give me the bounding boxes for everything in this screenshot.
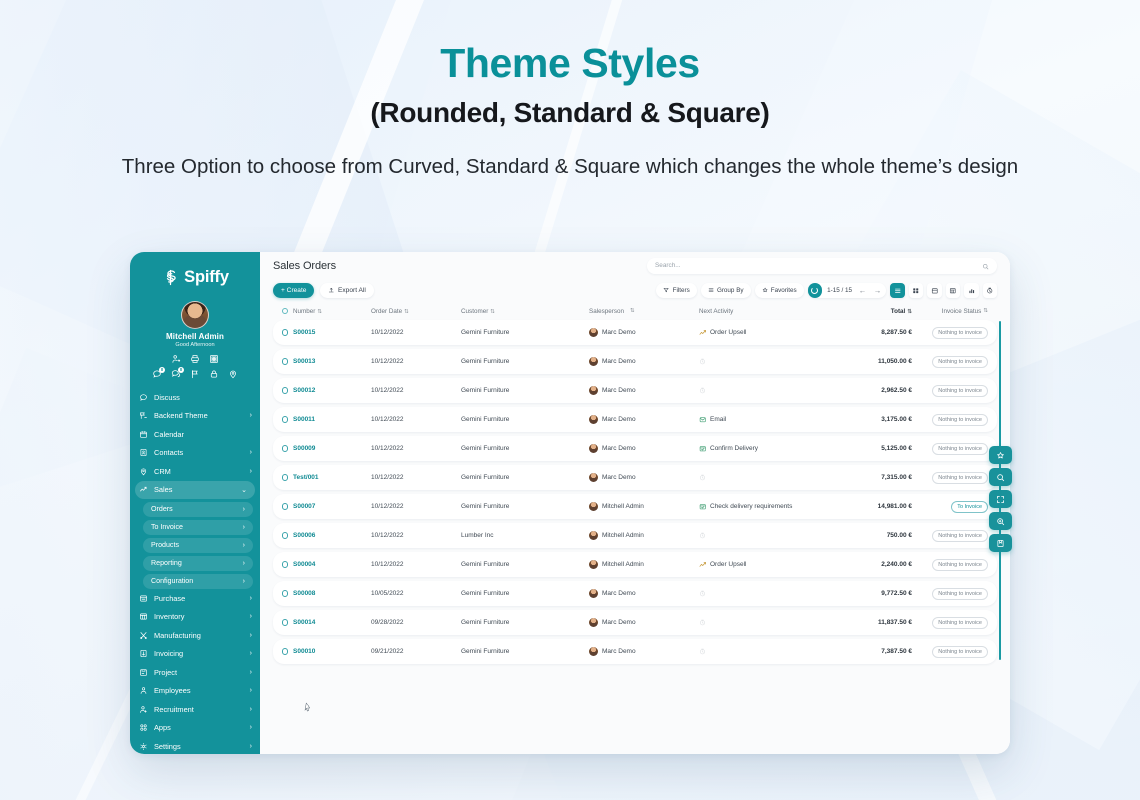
sidebar-item-label: Settings (154, 742, 244, 751)
cell-next-activity[interactable]: Confirm Delivery (699, 445, 840, 453)
cell-order-date: 10/12/2022 (371, 387, 461, 394)
upsell-chart-icon (699, 329, 707, 337)
row-checkbox[interactable] (277, 445, 293, 452)
salesperson-name: Marc Demo (602, 358, 636, 365)
theme-icon (139, 411, 148, 420)
status-badge: To Invoice (951, 501, 988, 513)
next-activity-label: Confirm Delivery (710, 445, 758, 452)
create-button[interactable]: + Create (273, 283, 314, 298)
pivot-view-icon[interactable] (946, 283, 961, 298)
upload-icon (328, 287, 335, 294)
export-all-label: Export All (338, 287, 366, 294)
table-row[interactable]: S0000810/05/2022Gemini FurnitureMarc Dem… (273, 581, 997, 606)
cell-customer: Gemini Furniture (461, 387, 589, 394)
sidebar-item-project[interactable]: Project › (130, 663, 260, 682)
sidebar-menu: Discuss Backend Theme › Calendar Contact… (130, 388, 260, 754)
avatar (589, 328, 598, 337)
kanban-view-icon[interactable] (909, 283, 924, 298)
pager: 1-15 / 15 ← → (808, 283, 886, 298)
next-activity-label: Order Upsell (710, 329, 746, 336)
cell-next-activity[interactable]: Order Upsell (699, 329, 840, 337)
cell-next-activity[interactable] (699, 387, 840, 394)
cell-order-date: 10/12/2022 (371, 445, 461, 452)
manufacturing-icon (139, 631, 148, 640)
table-row[interactable]: S0001110/12/2022Gemini FurnitureMarc Dem… (273, 407, 997, 432)
cell-next-activity[interactable]: Order Upsell (699, 561, 840, 569)
table-body: S0001510/12/2022Gemini FurnitureMarc Dem… (273, 320, 997, 664)
messages-icon[interactable]: 0 (171, 369, 181, 379)
avatar (589, 357, 598, 366)
sidebar-item-label: Calendar (154, 430, 246, 439)
sort-icon: ⇅ (317, 309, 322, 315)
cell-next-activity[interactable] (699, 358, 840, 365)
contacts-icon (139, 448, 148, 457)
next-activity-label: Check delivery requirements (710, 503, 792, 510)
cell-invoice-status: Nothing to invoice (912, 559, 988, 571)
cell-number[interactable]: S00015 (293, 329, 371, 336)
cell-number[interactable]: S00004 (293, 561, 371, 568)
sidebar-item-configuration[interactable]: Configuration › (143, 574, 253, 590)
cell-invoice-status: To Invoice (912, 501, 988, 513)
sidebar-item-label: Sales (154, 485, 235, 494)
cell-number[interactable]: S00008 (293, 590, 371, 597)
chevron-right-icon: › (250, 412, 252, 419)
next-activity-label: Email (710, 416, 726, 423)
status-badge: Nothing to invoice (932, 414, 988, 426)
cell-salesperson: Marc Demo (589, 415, 699, 424)
row-checkbox[interactable] (277, 532, 293, 539)
cell-next-activity[interactable]: Email (699, 416, 840, 424)
cell-order-date: 09/21/2022 (371, 648, 461, 655)
status-badge: Nothing to invoice (932, 530, 988, 542)
sidebar-item-reporting[interactable]: Reporting › (143, 556, 253, 572)
status-badge: Nothing to invoice (932, 385, 988, 397)
sidebar-item-label: Orders (151, 505, 237, 513)
sidebar: Spiffy Mitchell Admin Good Afternoon (130, 252, 260, 754)
filters-label: Filters (673, 287, 690, 294)
sidebar-item-label: Purchase (154, 594, 244, 603)
sidebar-item-label: Products (151, 541, 237, 549)
cell-total: 750.00 € (840, 532, 912, 539)
salesperson-name: Mitchell Admin (602, 561, 644, 568)
user-name: Mitchell Admin (130, 332, 260, 341)
sidebar-item-label: Contacts (154, 448, 244, 457)
sidebar-item-label: Apps (154, 723, 244, 732)
cell-salesperson: Marc Demo (589, 328, 699, 337)
salesperson-name: Marc Demo (602, 474, 636, 481)
chevron-right-icon: › (243, 560, 245, 567)
cell-total: 3,175.00 € (840, 416, 912, 423)
status-badge: Nothing to invoice (932, 588, 988, 600)
sidebar-item-backend-theme[interactable]: Backend Theme › (130, 407, 260, 426)
avatar (589, 589, 598, 598)
discuss-icon (139, 393, 148, 402)
pager-next-button[interactable]: → (872, 286, 883, 295)
status-badge: Nothing to invoice (932, 617, 988, 629)
column-header-number[interactable]: Number⇅ (293, 308, 371, 315)
salesperson-name: Marc Demo (602, 387, 636, 394)
row-checkbox[interactable] (277, 619, 293, 626)
sort-icon: ⇅ (490, 309, 495, 315)
sidebar-item-label: Inventory (154, 612, 244, 621)
cell-total: 7,387.50 € (840, 648, 912, 655)
sort-icon: ⇅ (404, 309, 409, 315)
book-icon[interactable] (989, 534, 1012, 552)
zoom-in-icon[interactable] (989, 512, 1012, 530)
table-header-row: Number⇅ Order Date⇅ Customer⇅ Salesperso… (273, 302, 997, 320)
cell-total: 11,837.50 € (840, 619, 912, 626)
sidebar-item-products[interactable]: Products › (143, 538, 253, 554)
calendar-view-icon[interactable] (927, 283, 942, 298)
table-row[interactable]: S0001409/28/2022Gemini FurnitureMarc Dem… (273, 610, 997, 635)
cell-invoice-status: Nothing to invoice (912, 530, 988, 542)
cell-total: 7,315.00 € (840, 474, 912, 481)
cell-next-activity[interactable] (699, 532, 840, 539)
chevron-right-icon: › (250, 632, 252, 639)
notification-badge: 0 (178, 367, 184, 373)
group-by-button[interactable]: Group By (701, 283, 751, 298)
sales-chart-icon (139, 485, 148, 494)
cell-order-date: 10/12/2022 (371, 474, 461, 481)
cell-customer: Gemini Furniture (461, 474, 589, 481)
column-header-next-activity[interactable]: Next Activity (699, 308, 840, 315)
sidebar-item-label: Employees (154, 686, 244, 695)
search-icon[interactable] (982, 257, 989, 275)
cell-next-activity[interactable]: Check delivery requirements (699, 503, 840, 511)
salesperson-name: Mitchell Admin (602, 532, 644, 539)
salesperson-name: Marc Demo (602, 329, 636, 336)
calendar-check-icon (699, 445, 707, 453)
sidebar-item-label: Discuss (154, 393, 246, 402)
row-checkbox[interactable] (277, 561, 293, 568)
sidebar-item-label: Recruitment (154, 705, 244, 714)
sidebar-item-inventory[interactable]: Inventory › (130, 608, 260, 627)
cell-invoice-status: Nothing to invoice (912, 327, 988, 339)
page-subtitle: (Rounded, Standard & Square) (0, 85, 1140, 129)
fullscreen-icon[interactable] (989, 490, 1012, 508)
clock-icon (699, 648, 706, 655)
sidebar-item-label: Invoicing (154, 649, 244, 658)
salesperson-name: Mitchell Admin (602, 503, 644, 510)
sidebar-item-to-invoice[interactable]: To Invoice › (143, 520, 253, 536)
status-badge: Nothing to invoice (932, 443, 988, 455)
export-all-button[interactable]: Export All (320, 283, 373, 298)
cell-salesperson: Mitchell Admin (589, 531, 699, 540)
cell-customer: Gemini Furniture (461, 619, 589, 626)
sidebar-quick-icons: 0 0 (130, 354, 260, 379)
star-icon (762, 287, 768, 293)
search-icon[interactable] (989, 468, 1012, 486)
chevron-right-icon: › (243, 578, 245, 585)
settings-gear-icon (139, 742, 148, 751)
calendar-check-icon (699, 503, 707, 511)
cell-customer: Gemini Furniture (461, 503, 589, 510)
page-title: Theme Styles (0, 0, 1140, 85)
cell-invoice-status: Nothing to invoice (912, 356, 988, 368)
sidebar-item-recruitment[interactable]: Recruitment › (130, 700, 260, 719)
row-checkbox[interactable] (277, 503, 293, 510)
table-row[interactable]: S0000410/12/2022Gemini FurnitureMitchell… (273, 552, 997, 577)
inventory-icon (139, 612, 148, 621)
chevron-right-icon: › (250, 595, 252, 602)
cell-order-date: 10/12/2022 (371, 532, 461, 539)
list-view-icon[interactable] (890, 283, 905, 298)
brand-name: Spiffy (184, 268, 229, 287)
status-badge: Nothing to invoice (932, 327, 988, 339)
row-checkbox[interactable] (277, 358, 293, 365)
table-row[interactable]: S0001310/12/2022Gemini FurnitureMarc Dem… (273, 349, 997, 374)
location-pin-icon[interactable] (228, 369, 238, 379)
row-checkbox[interactable] (277, 416, 293, 423)
cell-order-date: 10/12/2022 (371, 358, 461, 365)
sidebar-item-apps[interactable]: Apps › (130, 719, 260, 738)
chevron-right-icon: › (250, 669, 252, 676)
sidebar-item-employees[interactable]: Employees › (130, 682, 260, 701)
column-header-customer[interactable]: Customer⇅ (461, 308, 589, 315)
sidebar-item-label: CRM (154, 467, 244, 476)
clock-icon (699, 387, 706, 394)
column-header-total[interactable]: Total⇅ (840, 308, 912, 315)
table-row[interactable]: Test/00110/12/2022Gemini FurnitureMarc D… (273, 465, 997, 490)
cell-invoice-status: Nothing to invoice (912, 385, 988, 397)
brand[interactable]: Spiffy (130, 261, 260, 294)
recruitment-icon (139, 705, 148, 714)
user-card[interactable]: Mitchell Admin Good Afternoon (130, 301, 260, 348)
cell-total: 9,772.50 € (840, 590, 912, 597)
avatar (589, 473, 598, 482)
status-badge: Nothing to invoice (932, 356, 988, 368)
avatar (589, 531, 598, 540)
cell-number[interactable]: S00013 (293, 358, 371, 365)
main-content: Sales Orders Search... + Create Export A… (260, 252, 1010, 754)
avatar (589, 386, 598, 395)
graph-view-icon[interactable] (964, 283, 979, 298)
avatar (589, 415, 598, 424)
cell-customer: Gemini Furniture (461, 648, 589, 655)
cell-customer: Gemini Furniture (461, 329, 589, 336)
sidebar-item-label: Manufacturing (154, 631, 244, 640)
cell-customer: Lumber Inc (461, 532, 589, 539)
cell-salesperson: Marc Demo (589, 357, 699, 366)
cell-order-date: 10/12/2022 (371, 416, 461, 423)
row-checkbox[interactable] (277, 648, 293, 655)
cell-order-date: 10/12/2022 (371, 503, 461, 510)
row-checkbox[interactable] (277, 590, 293, 597)
status-badge: Nothing to invoice (932, 646, 988, 658)
activity-view-icon[interactable] (983, 283, 998, 298)
cell-number[interactable]: S00010 (293, 648, 371, 655)
row-checkbox[interactable] (277, 329, 293, 336)
avatar (589, 502, 598, 511)
cell-number[interactable]: Test/001 (293, 474, 371, 481)
cell-invoice-status: Nothing to invoice (912, 588, 988, 600)
favorites-button[interactable]: Favorites (755, 283, 804, 298)
salesperson-name: Marc Demo (602, 416, 636, 423)
lock-icon[interactable] (209, 369, 219, 379)
chevron-right-icon: › (243, 524, 245, 531)
purchase-icon (139, 594, 148, 603)
cell-customer: Gemini Furniture (461, 445, 589, 452)
view-tools: Filters Group By Favorites 1-15 / 15 ← → (656, 283, 997, 298)
notification-badge: 0 (159, 367, 165, 373)
sidebar-item-orders[interactable]: Orders › (143, 502, 253, 518)
search-placeholder: Search... (655, 262, 982, 269)
cell-customer: Gemini Furniture (461, 358, 589, 365)
cell-salesperson: Marc Demo (589, 386, 699, 395)
chevron-right-icon: › (250, 706, 252, 713)
cell-next-activity[interactable] (699, 648, 840, 655)
email-icon (699, 416, 707, 424)
avatar (589, 647, 598, 656)
cell-order-date: 10/05/2022 (371, 590, 461, 597)
user-switch-icon[interactable] (171, 354, 181, 364)
next-activity-label: Order Upsell (710, 561, 746, 568)
main-header: Sales Orders Search... (260, 252, 1010, 279)
headline-block: Theme Styles (Rounded, Standard & Square… (0, 0, 1140, 181)
salesperson-name: Marc Demo (602, 590, 636, 597)
cell-number[interactable]: S00007 (293, 503, 371, 510)
sidebar-item-discuss[interactable]: Discuss (130, 388, 260, 407)
chevron-right-icon: › (250, 743, 252, 750)
sidebar-item-manufacturing[interactable]: Manufacturing › (130, 626, 260, 645)
filters-button[interactable]: Filters (656, 283, 696, 298)
quick-icons-row-1 (130, 354, 260, 364)
avatar (589, 444, 598, 453)
calendar-icon (139, 430, 148, 439)
sidebar-item-crm[interactable]: CRM › (130, 462, 260, 481)
cell-invoice-status: Nothing to invoice (912, 617, 988, 629)
sidebar-item-calendar[interactable]: Calendar (130, 425, 260, 444)
cell-salesperson: Mitchell Admin (589, 502, 699, 511)
action-bar: + Create Export All Filters Group By Fav… (260, 279, 1010, 302)
floating-action-buttons (989, 446, 1012, 552)
column-header-order-date[interactable]: Order Date⇅ (371, 308, 461, 315)
mouse-cursor (304, 700, 313, 712)
cell-order-date: 10/12/2022 (371, 329, 461, 336)
cell-salesperson: Marc Demo (589, 618, 699, 627)
salesperson-name: Marc Demo (602, 445, 636, 452)
table-row[interactable]: S0001009/21/2022Gemini FurnitureMarc Dem… (273, 639, 997, 664)
chevron-right-icon: › (243, 542, 245, 549)
cell-total: 5,125.00 € (840, 445, 912, 452)
cell-salesperson: Marc Demo (589, 589, 699, 598)
cell-total: 2,240.00 € (840, 561, 912, 568)
app-window-screenshot: Spiffy Mitchell Admin Good Afternoon (130, 252, 1010, 754)
list-icon (708, 287, 714, 293)
cell-number[interactable]: S00014 (293, 619, 371, 626)
sidebar-item-settings[interactable]: Settings › (130, 737, 260, 754)
cell-invoice-status: Nothing to invoice (912, 472, 988, 484)
apps-icon (139, 723, 148, 732)
status-badge: Nothing to invoice (932, 472, 988, 484)
avatar (181, 301, 209, 329)
cell-customer: Gemini Furniture (461, 590, 589, 597)
cell-next-activity[interactable] (699, 590, 840, 597)
qr-code-icon[interactable] (209, 354, 219, 364)
cell-number[interactable]: S00009 (293, 445, 371, 452)
cell-number[interactable]: S00006 (293, 532, 371, 539)
cell-invoice-status: Nothing to invoice (912, 414, 988, 426)
avatar (589, 560, 598, 569)
cell-total: 11,050.00 € (840, 358, 912, 365)
chevron-right-icon: › (243, 506, 245, 513)
chat-bubble-icon[interactable]: 0 (152, 369, 162, 379)
sidebar-item-label: Configuration (151, 577, 237, 585)
cell-invoice-status: Nothing to invoice (912, 443, 988, 455)
chevron-right-icon: › (250, 650, 252, 657)
favorites-label: Favorites (771, 287, 797, 294)
table-row[interactable]: S0000710/12/2022Gemini FurnitureMitchell… (273, 494, 997, 519)
sidebar-item-label: Reporting (151, 559, 237, 567)
clock-icon (699, 474, 706, 481)
chevron-right-icon: › (250, 613, 252, 620)
clock-icon (699, 619, 706, 626)
sort-icon: ⇅ (630, 308, 635, 314)
cell-next-activity[interactable] (699, 619, 840, 626)
column-header-salesperson[interactable]: Salesperson⇅ (589, 308, 699, 315)
page-description: Three Option to choose from Curved, Stan… (0, 129, 1140, 181)
chevron-right-icon: › (250, 724, 252, 731)
star-icon[interactable] (989, 446, 1012, 464)
cell-next-activity[interactable] (699, 474, 840, 481)
activity-flag-icon[interactable] (190, 369, 200, 379)
cell-number[interactable]: S00011 (293, 416, 371, 423)
table-row[interactable]: S0000610/12/2022Lumber IncMitchell Admin… (273, 523, 997, 548)
cell-order-date: 09/28/2022 (371, 619, 461, 626)
status-badge: Nothing to invoice (932, 559, 988, 571)
sidebar-item-label: Backend Theme (154, 411, 244, 420)
column-header-invoice-status[interactable]: Invoice Status⇅ (912, 308, 988, 315)
table-row[interactable]: S0001210/12/2022Gemini FurnitureMarc Dem… (273, 378, 997, 403)
pager-prev-button[interactable]: ← (857, 286, 868, 295)
table-row[interactable]: S0001510/12/2022Gemini FurnitureMarc Dem… (273, 320, 997, 345)
cell-customer: Gemini Furniture (461, 561, 589, 568)
search-input[interactable]: Search... (647, 258, 997, 274)
user-greeting: Good Afternoon (130, 342, 260, 348)
sidebar-item-contacts[interactable]: Contacts › (130, 444, 260, 463)
chevron-down-icon: ⌄ (241, 486, 247, 494)
sidebar-item-invoicing[interactable]: Invoicing › (130, 645, 260, 664)
breadcrumb: Sales Orders (273, 260, 336, 272)
invoicing-icon (139, 649, 148, 658)
clock-icon (699, 358, 706, 365)
sort-icon: ⇅ (907, 309, 912, 315)
clock-icon (699, 590, 706, 597)
table-row[interactable]: S0000910/12/2022Gemini FurnitureMarc Dem… (273, 436, 997, 461)
table-container: Number⇅ Order Date⇅ Customer⇅ Salesperso… (260, 302, 1010, 754)
loading-circle-icon[interactable] (808, 283, 823, 298)
cell-invoice-status: Nothing to invoice (912, 646, 988, 658)
project-icon (139, 668, 148, 677)
row-checkbox[interactable] (277, 387, 293, 394)
clock-icon (699, 532, 706, 539)
chevron-right-icon: › (250, 449, 252, 456)
cell-salesperson: Marc Demo (589, 647, 699, 656)
sidebar-item-sales[interactable]: Sales ⌄ (135, 481, 255, 500)
sidebar-item-label: To Invoice (151, 523, 237, 531)
select-all-checkbox[interactable] (277, 308, 293, 315)
print-icon[interactable] (190, 354, 200, 364)
salesperson-name: Marc Demo (602, 648, 636, 655)
cell-order-date: 10/12/2022 (371, 561, 461, 568)
sort-icon: ⇅ (983, 308, 988, 315)
cell-total: 8,287.50 € (840, 329, 912, 336)
upsell-chart-icon (699, 561, 707, 569)
cell-number[interactable]: S00012 (293, 387, 371, 394)
sidebar-item-purchase[interactable]: Purchase › (130, 589, 260, 608)
row-checkbox[interactable] (277, 474, 293, 481)
spiffy-logo-icon (161, 268, 180, 287)
